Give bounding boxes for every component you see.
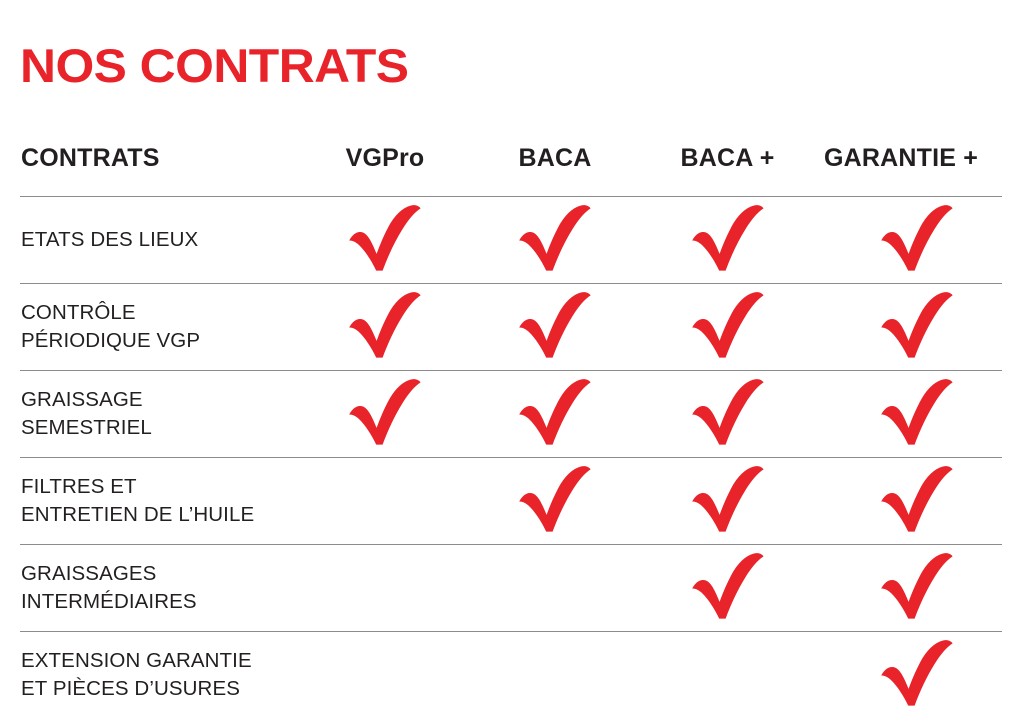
cell-baca-plus bbox=[640, 457, 815, 544]
row-label: FILTRES ET ENTRETIEN DE L’HUILE bbox=[0, 473, 300, 529]
check-mark-icon bbox=[689, 292, 767, 362]
cell-baca bbox=[470, 457, 640, 544]
row-label-line1: EXTENSION GARANTIE bbox=[21, 649, 252, 672]
cell-vgpro bbox=[300, 631, 470, 718]
row-label-line1: FILTRES ET bbox=[21, 475, 137, 498]
check-mark-icon bbox=[878, 640, 956, 710]
table-row-2: CONTRÔLE PÉRIODIQUE VGP bbox=[0, 283, 1019, 370]
check-mark-icon bbox=[346, 292, 424, 362]
row-label: ETATS DES LIEUX bbox=[0, 226, 300, 254]
cell-vgpro bbox=[300, 457, 470, 544]
row-label: GRAISSAGE SEMESTRIEL bbox=[0, 386, 300, 442]
cell-garantie-plus bbox=[815, 283, 1019, 370]
table-header-row: CONTRATS VGPro BACA BACA + GARANTIE + bbox=[0, 120, 1019, 196]
row-label-line2: SEMESTRIEL bbox=[21, 414, 300, 442]
row-label-line1: GRAISSAGES bbox=[21, 562, 156, 585]
cell-baca-plus bbox=[640, 544, 815, 631]
cell-garantie-plus bbox=[815, 196, 1019, 283]
check-mark-icon bbox=[516, 292, 594, 362]
cell-baca-plus bbox=[640, 196, 815, 283]
cell-garantie-plus bbox=[815, 457, 1019, 544]
row-label-line1: GRAISSAGE bbox=[21, 388, 143, 411]
row-label: CONTRÔLE PÉRIODIQUE VGP bbox=[0, 299, 300, 355]
row-label-line2: PÉRIODIQUE VGP bbox=[21, 327, 300, 355]
cell-vgpro bbox=[300, 196, 470, 283]
cell-garantie-plus bbox=[815, 631, 1019, 718]
column-header-garantie-plus: GARANTIE + bbox=[815, 120, 1019, 196]
cell-baca-plus bbox=[640, 631, 815, 718]
check-mark-icon bbox=[516, 466, 594, 536]
check-mark-icon bbox=[516, 379, 594, 449]
page-title: NOS CONTRATS bbox=[20, 37, 409, 95]
row-label: GRAISSAGES INTERMÉDIAIRES bbox=[0, 560, 300, 616]
row-label-line1: CONTRÔLE bbox=[21, 301, 136, 324]
cell-garantie-plus bbox=[815, 370, 1019, 457]
row-label-line1: ETATS DES LIEUX bbox=[21, 228, 198, 251]
row-label-line2: ENTRETIEN DE L’HUILE bbox=[21, 501, 300, 529]
check-mark-icon bbox=[878, 379, 956, 449]
column-header-baca-plus: BACA + bbox=[640, 120, 815, 196]
contracts-page: NOS CONTRATS CONTRATS VGPro BACA BACA + … bbox=[0, 0, 1019, 717]
cell-baca bbox=[470, 631, 640, 718]
cell-baca bbox=[470, 283, 640, 370]
row-label-line2: ET PIÈCES D’USURES bbox=[21, 675, 300, 703]
cell-vgpro bbox=[300, 283, 470, 370]
cell-baca bbox=[470, 196, 640, 283]
cell-baca-plus bbox=[640, 283, 815, 370]
check-mark-icon bbox=[878, 466, 956, 536]
table-row-3: GRAISSAGE SEMESTRIEL bbox=[0, 370, 1019, 457]
check-mark-icon bbox=[346, 379, 424, 449]
check-mark-icon bbox=[878, 553, 956, 623]
column-header-vgpro: VGPro bbox=[300, 120, 470, 196]
check-mark-icon bbox=[878, 205, 956, 275]
check-mark-icon bbox=[689, 553, 767, 623]
table-row-6: EXTENSION GARANTIE ET PIÈCES D’USURES bbox=[0, 631, 1019, 718]
cell-garantie-plus bbox=[815, 544, 1019, 631]
table-body: ETATS DES LIEUX CONTRÔLE PÉRIODIQUE VGP … bbox=[0, 196, 1019, 718]
table-row-4: FILTRES ET ENTRETIEN DE L’HUILE bbox=[0, 457, 1019, 544]
check-mark-icon bbox=[689, 466, 767, 536]
cell-baca bbox=[470, 544, 640, 631]
header-label-contrats: CONTRATS bbox=[0, 143, 300, 173]
cell-vgpro bbox=[300, 544, 470, 631]
check-mark-icon bbox=[689, 379, 767, 449]
check-mark-icon bbox=[516, 205, 594, 275]
cell-baca-plus bbox=[640, 370, 815, 457]
column-header-baca: BACA bbox=[470, 120, 640, 196]
cell-vgpro bbox=[300, 370, 470, 457]
contracts-table: CONTRATS VGPro BACA BACA + GARANTIE + ET… bbox=[0, 120, 1019, 718]
check-mark-icon bbox=[689, 205, 767, 275]
row-label: EXTENSION GARANTIE ET PIÈCES D’USURES bbox=[0, 647, 300, 703]
cell-baca bbox=[470, 370, 640, 457]
check-mark-icon bbox=[878, 292, 956, 362]
table-row-5: GRAISSAGES INTERMÉDIAIRES bbox=[0, 544, 1019, 631]
row-label-line2: INTERMÉDIAIRES bbox=[21, 588, 300, 616]
check-mark-icon bbox=[346, 205, 424, 275]
table-row-1: ETATS DES LIEUX bbox=[0, 196, 1019, 283]
